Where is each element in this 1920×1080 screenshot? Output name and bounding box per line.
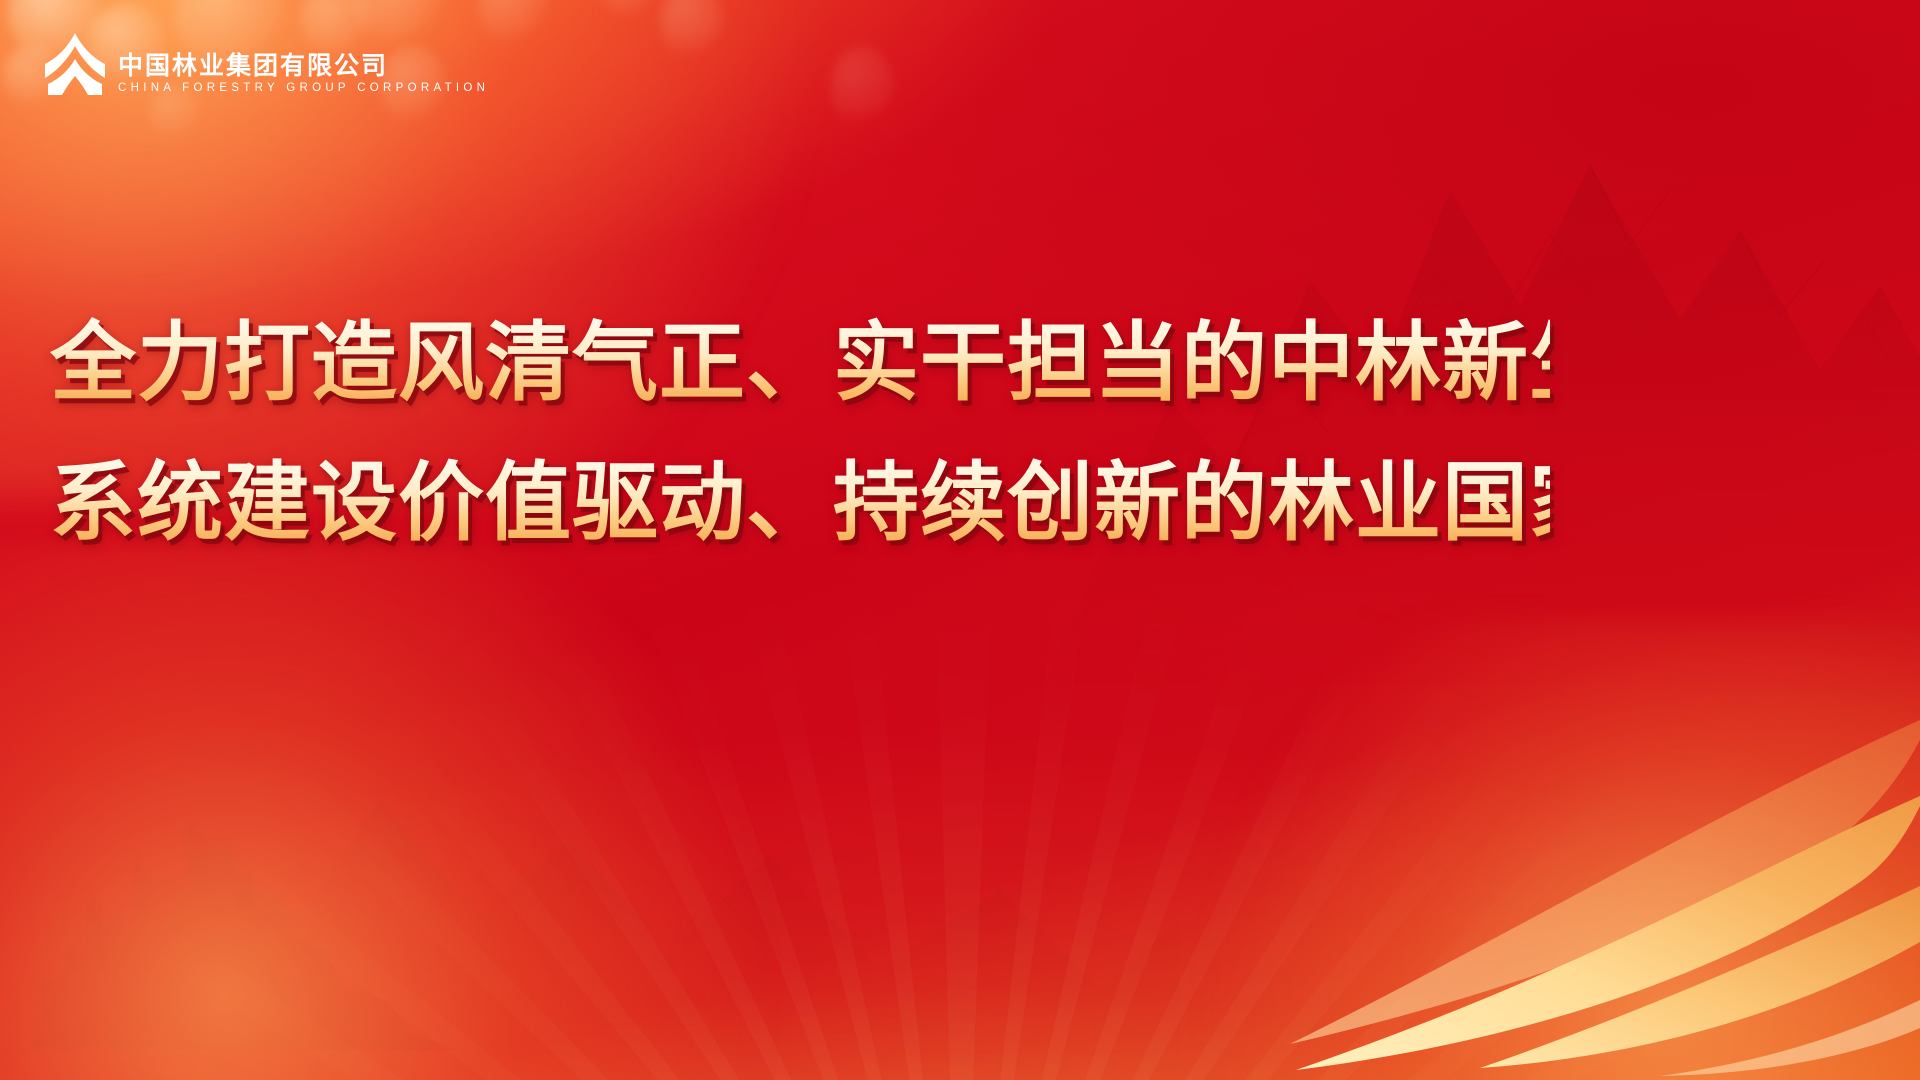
- headline-line-1: 全力打造风清气正、实干担当的中林新生态: [50, 296, 1550, 430]
- brand-logo[interactable]: 中国林业集团有限公司 CHINA FORESTRY GROUP CORPORAT…: [44, 31, 489, 95]
- headline-block: 全力打造风清气正、实干担当的中林新生态 系统建设价值驱动、持续创新的林业国家队: [50, 296, 1550, 570]
- brand-logo-text: 中国林业集团有限公司 CHINA FORESTRY GROUP CORPORAT…: [118, 54, 489, 96]
- bokeh-light-circle: [830, 46, 894, 128]
- great-wall-silhouette: [0, 750, 550, 1050]
- bokeh-light-circle: [600, 0, 660, 18]
- headline-line-2: 系统建设价值驱动、持续创新的林业国家队: [50, 436, 1550, 570]
- mountain-mark-icon: [44, 31, 106, 95]
- bokeh-light-circle: [660, 0, 724, 60]
- brand-name-cn: 中国林业集团有限公司: [118, 54, 489, 79]
- brand-name-en: CHINA FORESTRY GROUP CORPORATION: [118, 83, 489, 95]
- bottom-left-warm-wash: [0, 540, 890, 1080]
- bottom-right-warm-wash: [1120, 620, 1920, 1080]
- banner-canvas: 中国林业集团有限公司 CHINA FORESTRY GROUP CORPORAT…: [0, 0, 1920, 1080]
- ink-mountain-texture-bottom: [0, 650, 1180, 1080]
- gold-ribbon-swoosh: [960, 600, 1920, 1080]
